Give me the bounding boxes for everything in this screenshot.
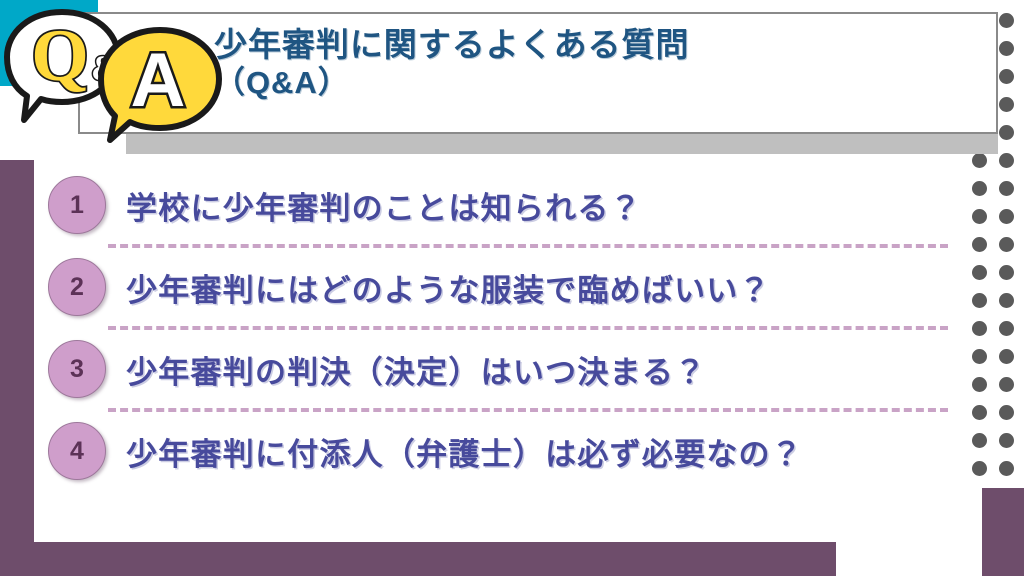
purple-frame-left-bar	[0, 160, 34, 576]
qa-speech-bubbles-logo: Q & A	[2, 4, 224, 144]
faq-item-3[interactable]: 3 少年審判の判決（決定）はいつ決まる？	[48, 330, 958, 408]
a-letter: A	[131, 38, 186, 123]
page-title-line-1: 少年審判に関するよくある質問	[214, 26, 689, 65]
decorative-dot	[999, 377, 1014, 392]
decorative-dot	[999, 69, 1014, 84]
slide-canvas: 少年審判に関するよくある質問 （Q&A） Q & A 1 学校に少年審判のことは…	[0, 0, 1024, 576]
purple-frame-bottom-bar	[0, 542, 836, 576]
decorative-dot	[972, 153, 987, 168]
decorative-dot	[972, 405, 987, 420]
page-title: 少年審判に関するよくある質問 （Q&A）	[214, 26, 689, 102]
decorative-dot	[972, 237, 987, 252]
decorative-dot	[999, 293, 1014, 308]
faq-question-text-3: 少年審判の判決（決定）はいつ決まる？	[126, 347, 706, 392]
decorative-dot	[999, 97, 1014, 112]
decorative-dot	[999, 237, 1014, 252]
decorative-dot	[972, 209, 987, 224]
decorative-dot	[972, 321, 987, 336]
faq-item-2[interactable]: 2 少年審判にはどのような服装で臨めばいい？	[48, 248, 958, 326]
decorative-dot	[999, 265, 1014, 280]
decorative-dot	[999, 349, 1014, 364]
faq-item-4[interactable]: 4 少年審判に付添人（弁護士）は必ず必要なの？	[48, 412, 958, 490]
faq-question-list: 1 学校に少年審判のことは知られる？ 2 少年審判にはどのような服装で臨めばいい…	[48, 166, 958, 490]
faq-question-text-2: 少年審判にはどのような服装で臨めばいい？	[126, 265, 771, 310]
decorative-dot	[999, 125, 1014, 140]
a-speech-bubble-icon: A	[101, 30, 219, 140]
decorative-dot	[972, 265, 987, 280]
page-title-line-2: （Q&A）	[214, 65, 689, 102]
decorative-dot	[999, 181, 1014, 196]
purple-frame-right-bar	[982, 488, 1024, 576]
decorative-dot	[999, 41, 1014, 56]
faq-question-text-1: 学校に少年審判のことは知られる？	[126, 183, 642, 228]
faq-number-badge-2: 2	[48, 258, 106, 316]
decorative-dot	[972, 433, 987, 448]
faq-item-1[interactable]: 1 学校に少年審判のことは知られる？	[48, 166, 958, 244]
faq-question-text-4: 少年審判に付添人（弁護士）は必ず必要なの？	[126, 429, 803, 474]
decorative-dot	[999, 209, 1014, 224]
q-letter: Q	[31, 15, 89, 97]
decorative-dot	[972, 349, 987, 364]
faq-number-badge-3: 3	[48, 340, 106, 398]
decorative-dot	[999, 13, 1014, 28]
faq-number-badge-1: 1	[48, 176, 106, 234]
decorative-dot	[972, 181, 987, 196]
decorative-dot	[972, 461, 987, 476]
decorative-dot	[999, 321, 1014, 336]
decorative-dot	[972, 293, 987, 308]
decorative-dot	[999, 153, 1014, 168]
decorative-dot	[999, 461, 1014, 476]
faq-number-badge-4: 4	[48, 422, 106, 480]
decorative-dot	[972, 377, 987, 392]
decorative-dot	[999, 433, 1014, 448]
decorative-dot	[999, 405, 1014, 420]
